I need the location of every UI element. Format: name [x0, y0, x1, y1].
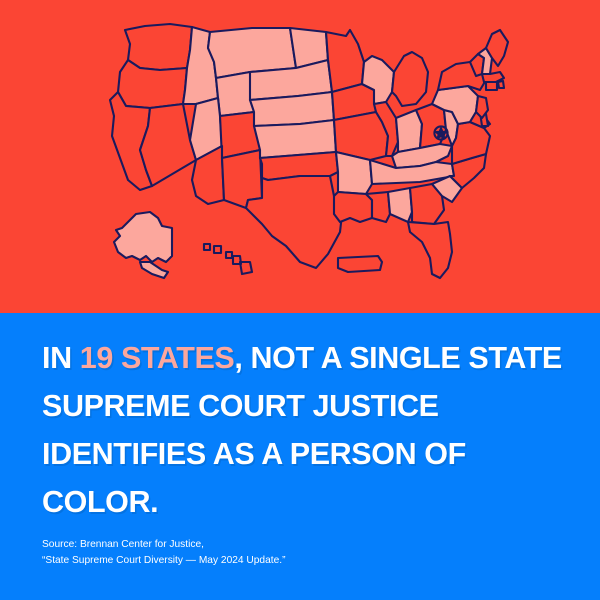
infographic-card: IN 19 STATES, NOT A SINGLE STATE SUPREME…: [0, 0, 600, 600]
state-nevada: [140, 104, 196, 186]
state-connecticut: [486, 82, 497, 90]
state-hawaii: [204, 244, 252, 274]
text-panel: IN 19 STATES, NOT A SINGLE STATE SUPREME…: [0, 313, 600, 600]
state-washington: [125, 24, 192, 70]
headline-state-count: 19 STATES: [80, 341, 235, 375]
state-alabama: [388, 188, 412, 222]
state-michigan: [392, 52, 428, 106]
state-minnesota: [326, 30, 364, 92]
source-line-1: Source: Brennan Center for Justice,: [42, 537, 462, 553]
source-attribution: Source: Brennan Center for Justice, “Sta…: [42, 537, 462, 568]
state-alaska: [114, 212, 172, 278]
state-florida: [408, 222, 452, 278]
us-map-svg: [0, 0, 600, 313]
state-arkansas: [336, 152, 372, 194]
state-louisiana: [334, 192, 372, 222]
headline-lead: IN: [42, 341, 80, 375]
source-line-2: “State Supreme Court Diversity — May 202…: [42, 553, 462, 569]
map-panel: [0, 0, 600, 313]
territory-puerto-rico: [338, 256, 382, 272]
headline: IN 19 STATES, NOT A SINGLE STATE SUPREME…: [42, 334, 562, 526]
state-wyoming: [216, 72, 254, 116]
state-rhode-island: [498, 81, 504, 88]
